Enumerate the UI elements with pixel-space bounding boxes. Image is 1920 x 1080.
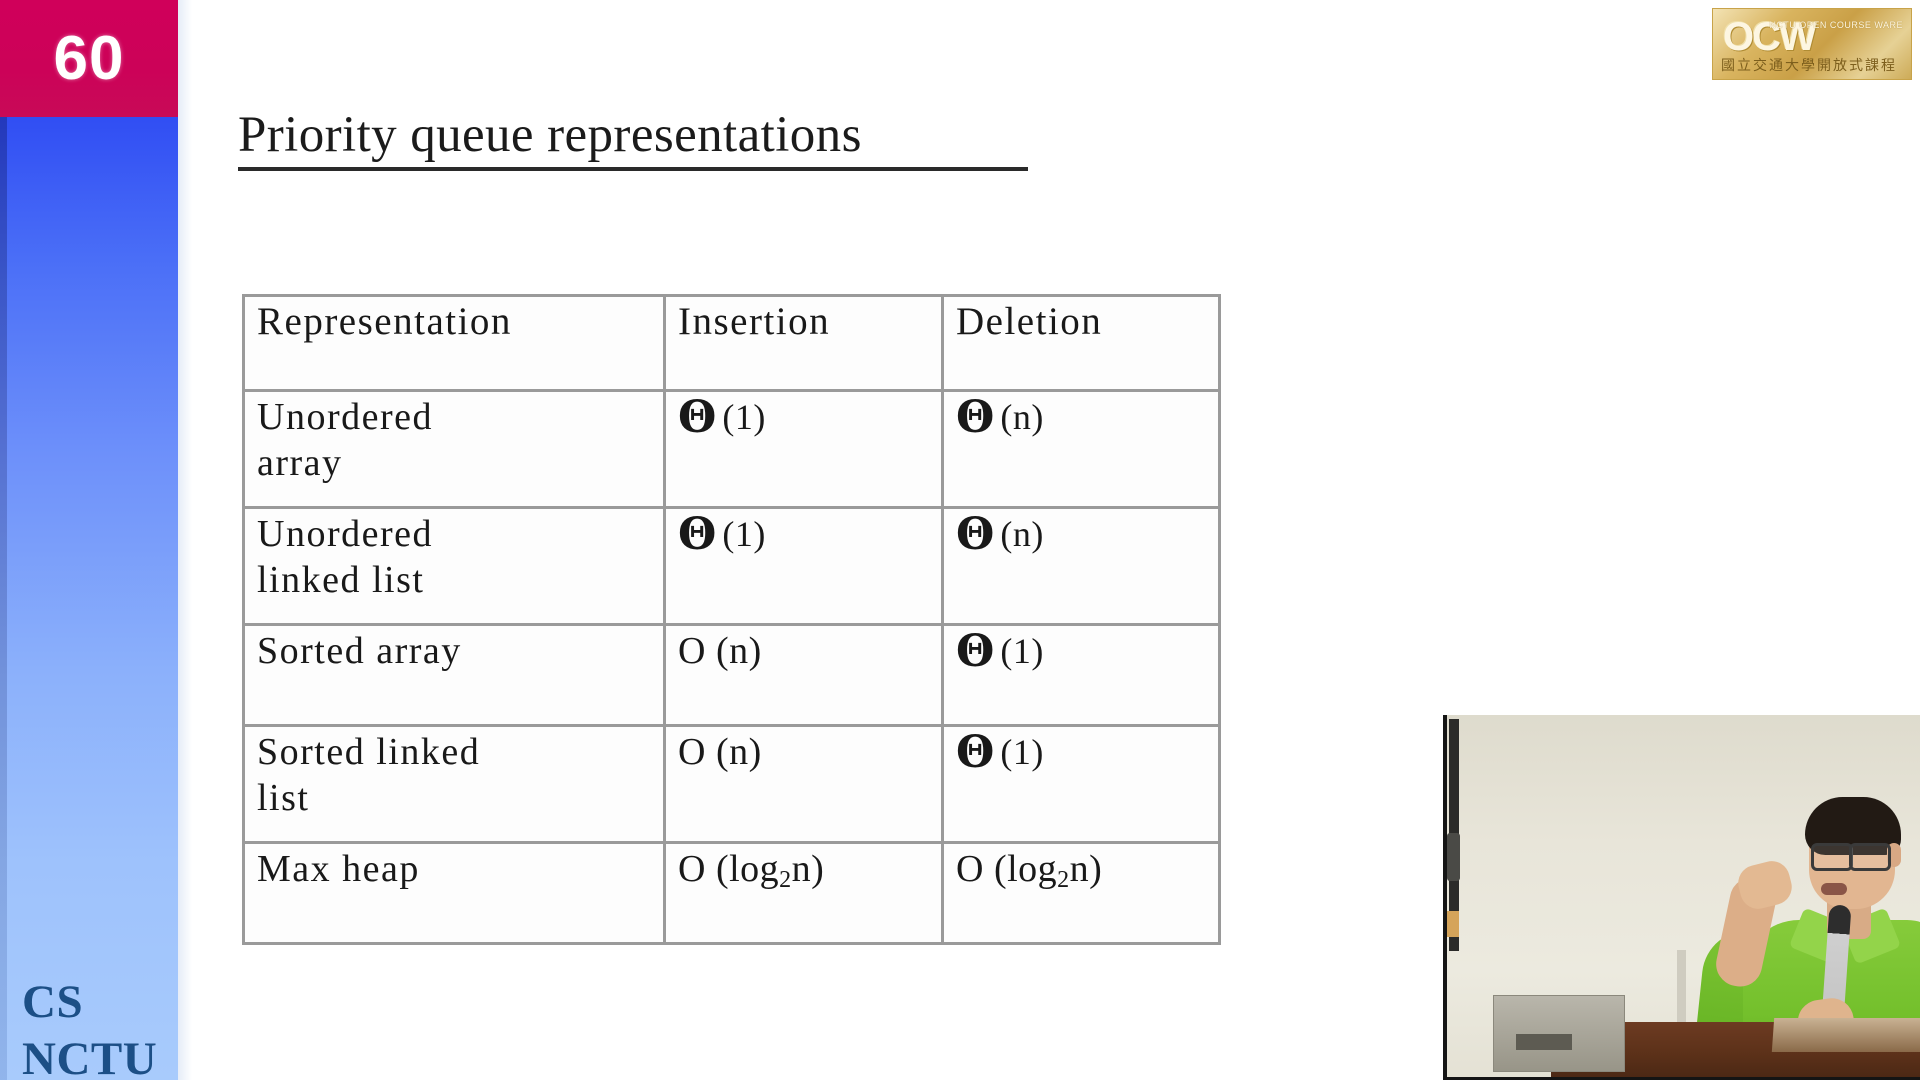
footer-logo-line-2: NCTU: [22, 1031, 182, 1080]
page-title: Priority queue representations: [238, 106, 1058, 164]
ocw-logo: OCW NCTU OPEN COURSE WARE 國立交通大學開放式課程: [1712, 8, 1912, 80]
lecture-slide-frame: 60 CS NCTU Priority queue representation…: [0, 0, 1920, 1080]
presenter-mouth: [1821, 883, 1847, 895]
floor-stand-pole: [1677, 950, 1686, 1028]
cell-deletion: O (log2n): [943, 843, 1220, 944]
theta-argument: (1): [722, 397, 765, 437]
theta-argument: (1): [1000, 631, 1043, 671]
complexity-value: O (log2n): [678, 848, 824, 890]
complexity-value: Θ(1): [956, 630, 1044, 672]
door-handle: [1447, 833, 1460, 881]
ocw-subtitle-chinese: 國立交通大學開放式課程: [1721, 55, 1897, 75]
table-header-row: Representation Insertion Deletion: [244, 296, 1220, 391]
complexity-value: Θ(1): [678, 513, 766, 555]
cell-representation: Unordered linked list: [244, 508, 665, 625]
cell-insertion: O (n): [665, 726, 943, 843]
theta-symbol: Θ: [956, 626, 994, 677]
table-row: Unordered linked list Θ(1) Θ(n): [244, 508, 1220, 625]
representation-label: Sorted linked list: [257, 729, 480, 821]
theta-argument: (1): [1000, 732, 1043, 772]
slide-number: 60: [0, 0, 178, 117]
table-row: Unordered array Θ(1) Θ(n): [244, 391, 1220, 508]
cell-deletion: Θ(n): [943, 391, 1220, 508]
theta-symbol: Θ: [956, 727, 994, 778]
theta-argument: (n): [1000, 514, 1043, 554]
log-base: 2: [1057, 867, 1070, 893]
sidebar-edge-shade: [0, 0, 7, 1080]
slide-title-block: Priority queue representations: [238, 106, 1058, 171]
equipment-box: [1493, 995, 1625, 1072]
cell-deletion: Θ(n): [943, 508, 1220, 625]
cell-insertion: O (log2n): [665, 843, 943, 944]
table-row: Sorted linked list O (n) Θ(1): [244, 726, 1220, 843]
log-suffix: n): [792, 848, 825, 890]
log-suffix: n): [1070, 848, 1103, 890]
cell-representation: Sorted array: [244, 625, 665, 726]
theta-symbol: Θ: [678, 509, 716, 560]
column-header-representation: Representation: [244, 296, 665, 391]
theta-argument: (n): [1000, 397, 1043, 437]
complexity-value: Θ(n): [956, 513, 1044, 555]
log-base: 2: [779, 867, 792, 893]
cell-insertion: O (n): [665, 625, 943, 726]
cell-deletion: Θ(1): [943, 625, 1220, 726]
table-row: Max heap O (log2n) O (log2n): [244, 843, 1220, 944]
cell-insertion: Θ(1): [665, 391, 943, 508]
footer-logo-line-1: CS: [22, 976, 83, 1028]
course-footer-logo: CS NCTU: [22, 974, 182, 1080]
video-left-border: [1443, 715, 1447, 1080]
theta-symbol: Θ: [678, 392, 716, 443]
complexity-value: Θ(1): [678, 396, 766, 438]
representation-label: Sorted array: [257, 628, 462, 674]
log-prefix: O (log: [956, 848, 1057, 890]
ocw-subtitle-english: NCTU OPEN COURSE WARE: [1769, 20, 1903, 31]
cell-insertion: Θ(1): [665, 508, 943, 625]
representation-label: Unordered linked list: [257, 511, 433, 603]
presenter-glasses-right-lens: [1849, 843, 1891, 871]
complexity-value: O (n): [678, 731, 762, 773]
complexity-value: O (n): [678, 630, 762, 672]
theta-symbol: Θ: [956, 392, 994, 443]
theta-symbol: Θ: [956, 509, 994, 560]
log-prefix: O (log: [678, 848, 779, 890]
representation-label: Unordered array: [257, 394, 433, 486]
complexity-value: O (log2n): [956, 848, 1102, 890]
content-edge-shade: [178, 0, 192, 1080]
column-header-insertion: Insertion: [665, 296, 943, 391]
table-row: Sorted array O (n) Θ(1): [244, 625, 1220, 726]
slide-content-area: Priority queue representations Represent…: [178, 0, 1920, 1080]
podium-top-surface: [1772, 1018, 1920, 1052]
cell-deletion: Θ(1): [943, 726, 1220, 843]
presenter-glasses-left-lens: [1811, 843, 1853, 871]
equipment-box-label: [1516, 1034, 1572, 1050]
representation-label: Max heap: [257, 846, 420, 892]
theta-argument: (1): [722, 514, 765, 554]
priority-queue-comparison-table: Representation Insertion Deletion Unorde…: [242, 294, 1221, 945]
cell-representation: Sorted linked list: [244, 726, 665, 843]
title-underline: [238, 167, 1028, 171]
complexity-value: Θ(1): [956, 731, 1044, 773]
cell-representation: Unordered array: [244, 391, 665, 508]
slide-sidebar: 60 CS NCTU: [0, 0, 178, 1080]
cell-representation: Max heap: [244, 843, 665, 944]
column-header-deletion: Deletion: [943, 296, 1220, 391]
presenter-video-inset[interactable]: [1443, 715, 1920, 1080]
complexity-value: Θ(n): [956, 396, 1044, 438]
